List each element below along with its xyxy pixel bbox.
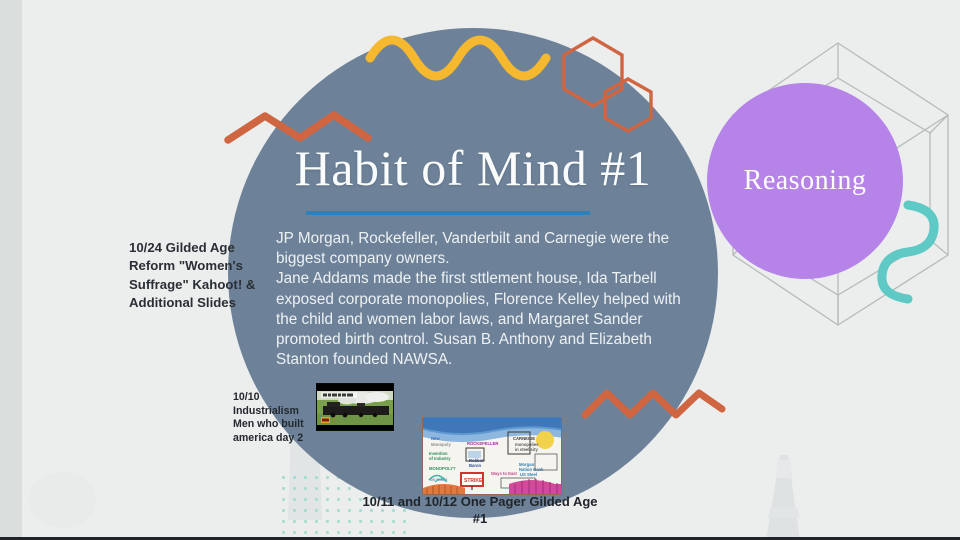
reasoning-badge-label: Reasoning bbox=[744, 165, 867, 197]
svg-text:Ways to East: Ways to East bbox=[491, 471, 518, 476]
svg-text:Monopoly: Monopoly bbox=[431, 442, 451, 447]
lighthouse-watermark-right bbox=[766, 455, 800, 540]
svg-text:ROCKEFELLER: ROCKEFELLER bbox=[467, 441, 498, 446]
title-divider bbox=[306, 211, 590, 215]
onepager-thumbnail-image: New Monopoly Invention of Industry MONOP… bbox=[423, 418, 562, 495]
svg-text:STRIKE: STRIKE bbox=[464, 478, 483, 484]
body-text: JP Morgan, Rockefeller, Vanderbilt and C… bbox=[276, 229, 696, 370]
caption-left: 10/24 Gilded Age Reform "Women's Suffrag… bbox=[129, 239, 274, 313]
svg-text:CARNEGIE: CARNEGIE bbox=[513, 436, 535, 441]
watermark-lower-left bbox=[28, 472, 96, 528]
onepager-thumbnail[interactable]: New Monopoly Invention of Industry MONOP… bbox=[422, 417, 562, 495]
svg-text:US Steel: US Steel bbox=[520, 472, 537, 477]
reasoning-badge: Reasoning bbox=[707, 83, 903, 279]
video-thumbnail[interactable] bbox=[316, 383, 394, 431]
svg-text:of Industry: of Industry bbox=[429, 456, 451, 461]
video-thumbnail-image bbox=[317, 384, 394, 431]
left-edge-strip bbox=[0, 0, 22, 540]
slide-canvas: Reasoning Habit of Mind #1 JP Morgan, Ro… bbox=[0, 0, 960, 540]
svg-text:New: New bbox=[431, 436, 440, 441]
body-paragraph-2: Jane Addams made the first sttlement hou… bbox=[276, 269, 696, 370]
caption-bottom: 10/11 and 10/12 One Pager Gilded Age #1 bbox=[360, 494, 600, 527]
page-title: Habit of Mind #1 bbox=[236, 142, 710, 195]
body-paragraph-1: JP Morgan, Rockefeller, Vanderbilt and C… bbox=[276, 229, 696, 269]
svg-text:in steel city: in steel city bbox=[515, 447, 538, 452]
svg-text:Baron: Baron bbox=[469, 463, 482, 468]
svg-text:MONOPOLY?: MONOPOLY? bbox=[429, 466, 456, 471]
caption-video: 10/10 Industrialism Men who built americ… bbox=[233, 391, 315, 445]
